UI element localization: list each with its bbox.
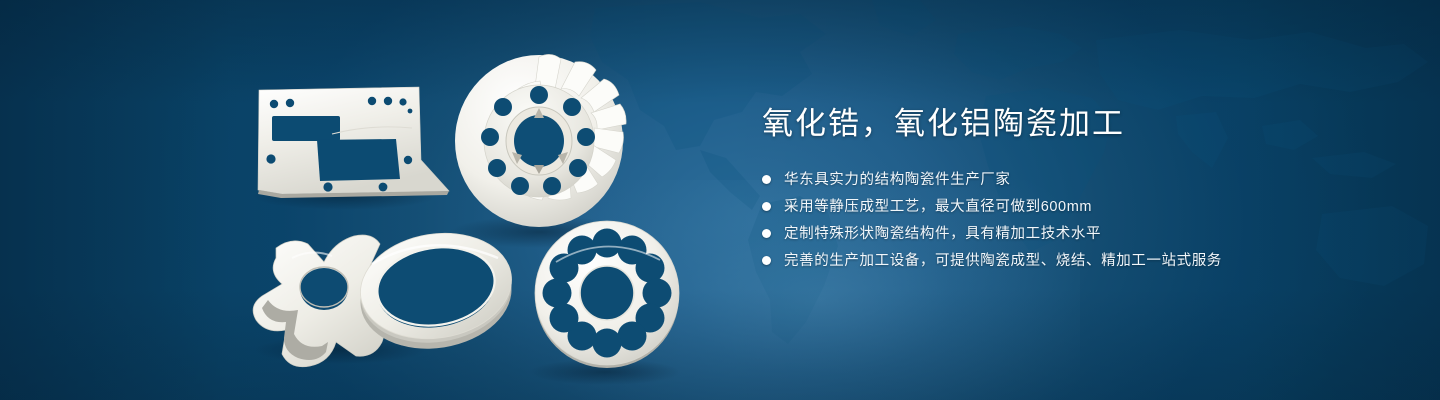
list-item-label: 定制特殊形状陶瓷结构件，具有精加工技术水平	[784, 224, 1101, 244]
list-item: 采用等静压成型工艺，最大直径可做到600mm	[762, 195, 1382, 218]
list-item: 完善的生产加工设备，可提供陶瓷成型、烧结、精加工一站式服务	[762, 249, 1382, 272]
bullet-dot-icon	[762, 202, 771, 211]
bullet-dot-icon	[762, 256, 771, 265]
list-item-label: 采用等静压成型工艺，最大直径可做到600mm	[784, 197, 1092, 217]
product-hero-banner: 氧化锆，氧化铝陶瓷加工 华东具实力的结构陶瓷件生产厂家 采用等静压成型工艺，最大…	[0, 0, 1440, 400]
list-item: 华东具实力的结构陶瓷件生产厂家	[762, 168, 1382, 191]
bullet-dot-icon	[762, 229, 771, 238]
list-item-label: 完善的生产加工设备，可提供陶瓷成型、烧结、精加工一站式服务	[784, 251, 1222, 271]
list-item-label: 华东具实力的结构陶瓷件生产厂家	[784, 170, 1011, 190]
bullet-dot-icon	[762, 175, 771, 184]
banner-headline: 氧化锆，氧化铝陶瓷加工	[762, 104, 1382, 144]
banner-feature-list: 华东具实力的结构陶瓷件生产厂家 采用等静压成型工艺，最大直径可做到600mm 定…	[762, 168, 1382, 272]
banner-text-column: 氧化锆，氧化铝陶瓷加工 华东具实力的结构陶瓷件生产厂家 采用等静压成型工艺，最大…	[762, 104, 1382, 276]
list-item: 定制特殊形状陶瓷结构件，具有精加工技术水平	[762, 222, 1382, 245]
